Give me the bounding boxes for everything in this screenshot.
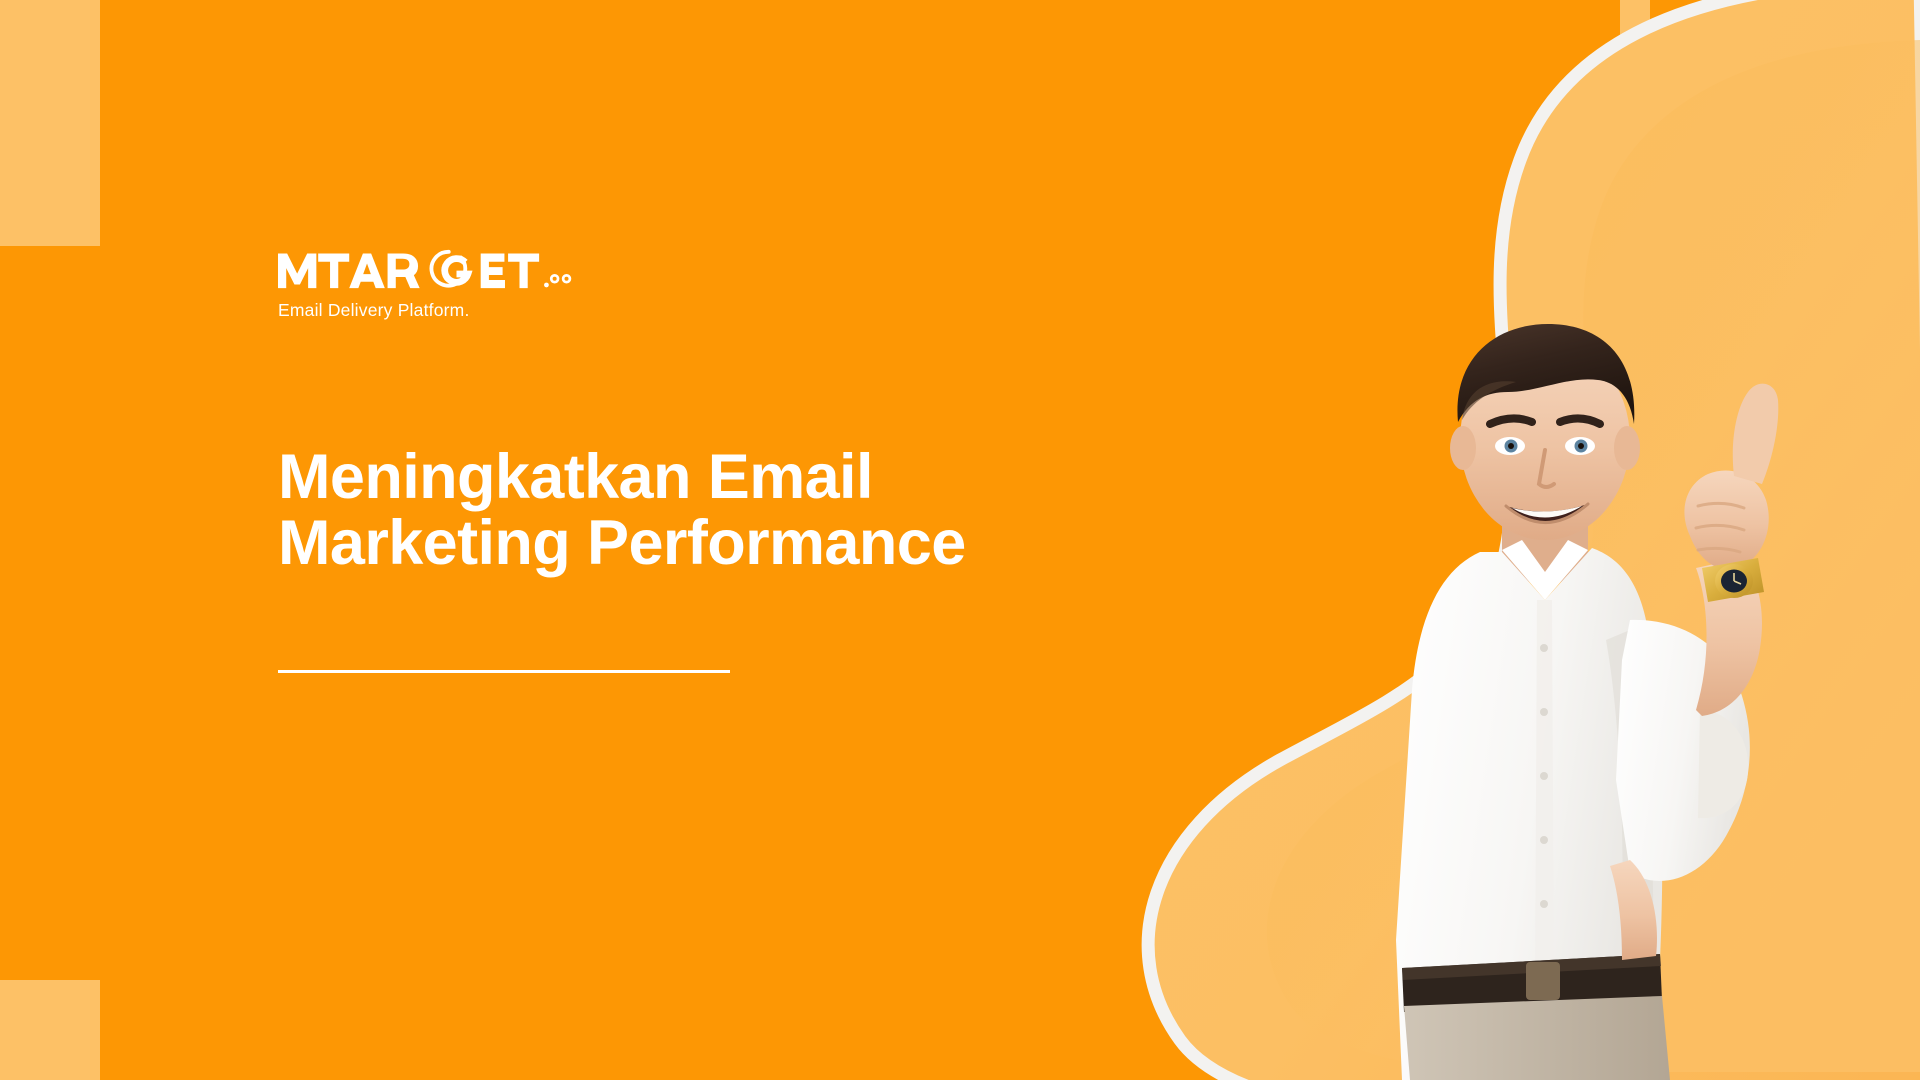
slide-canvas: Email Delivery Platform. Meningkatkan Em… xyxy=(0,0,1920,1080)
bottom-left-accent-block xyxy=(0,980,100,1080)
person-photo xyxy=(1330,300,1890,1080)
brand-tagline: Email Delivery Platform. xyxy=(278,302,579,320)
title-underline-divider xyxy=(278,670,730,673)
page-title: Meningkatkan Email Marketing Performance xyxy=(278,445,1038,576)
content-column: Email Delivery Platform. Meningkatkan Em… xyxy=(278,0,1038,1080)
top-left-accent-block xyxy=(0,0,100,246)
brand-logo: Email Delivery Platform. xyxy=(278,248,579,320)
mtarget-logo-icon xyxy=(278,248,579,290)
headline-line-1: Meningkatkan Email xyxy=(278,445,1038,511)
headline-line-2: Marketing Performance xyxy=(278,511,1038,577)
